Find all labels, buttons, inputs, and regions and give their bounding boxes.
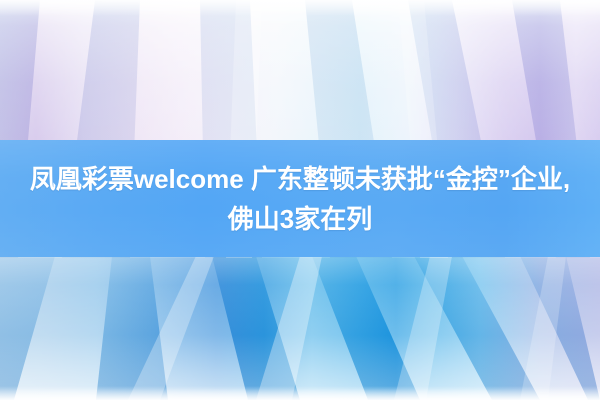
headline-text: 凤凰彩票welcome 广东整顿未获批“金控”企业, 佛山3家在列 (0, 140, 600, 257)
top-edge-fade (0, 0, 600, 16)
bottom-edge-fade (0, 386, 600, 400)
banner-image: 凤凰彩票welcome 广东整顿未获批“金控”企业, 佛山3家在列 (0, 0, 600, 400)
headline-line-1: 凤凰彩票welcome 广东整顿未获批“金控”企业, (30, 159, 570, 199)
background-bottom-veil (0, 256, 600, 400)
headline-line-2: 佛山3家在列 (228, 199, 372, 239)
headline-band: 凤凰彩票welcome 广东整顿未获批“金控”企业, 佛山3家在列 (0, 140, 600, 257)
